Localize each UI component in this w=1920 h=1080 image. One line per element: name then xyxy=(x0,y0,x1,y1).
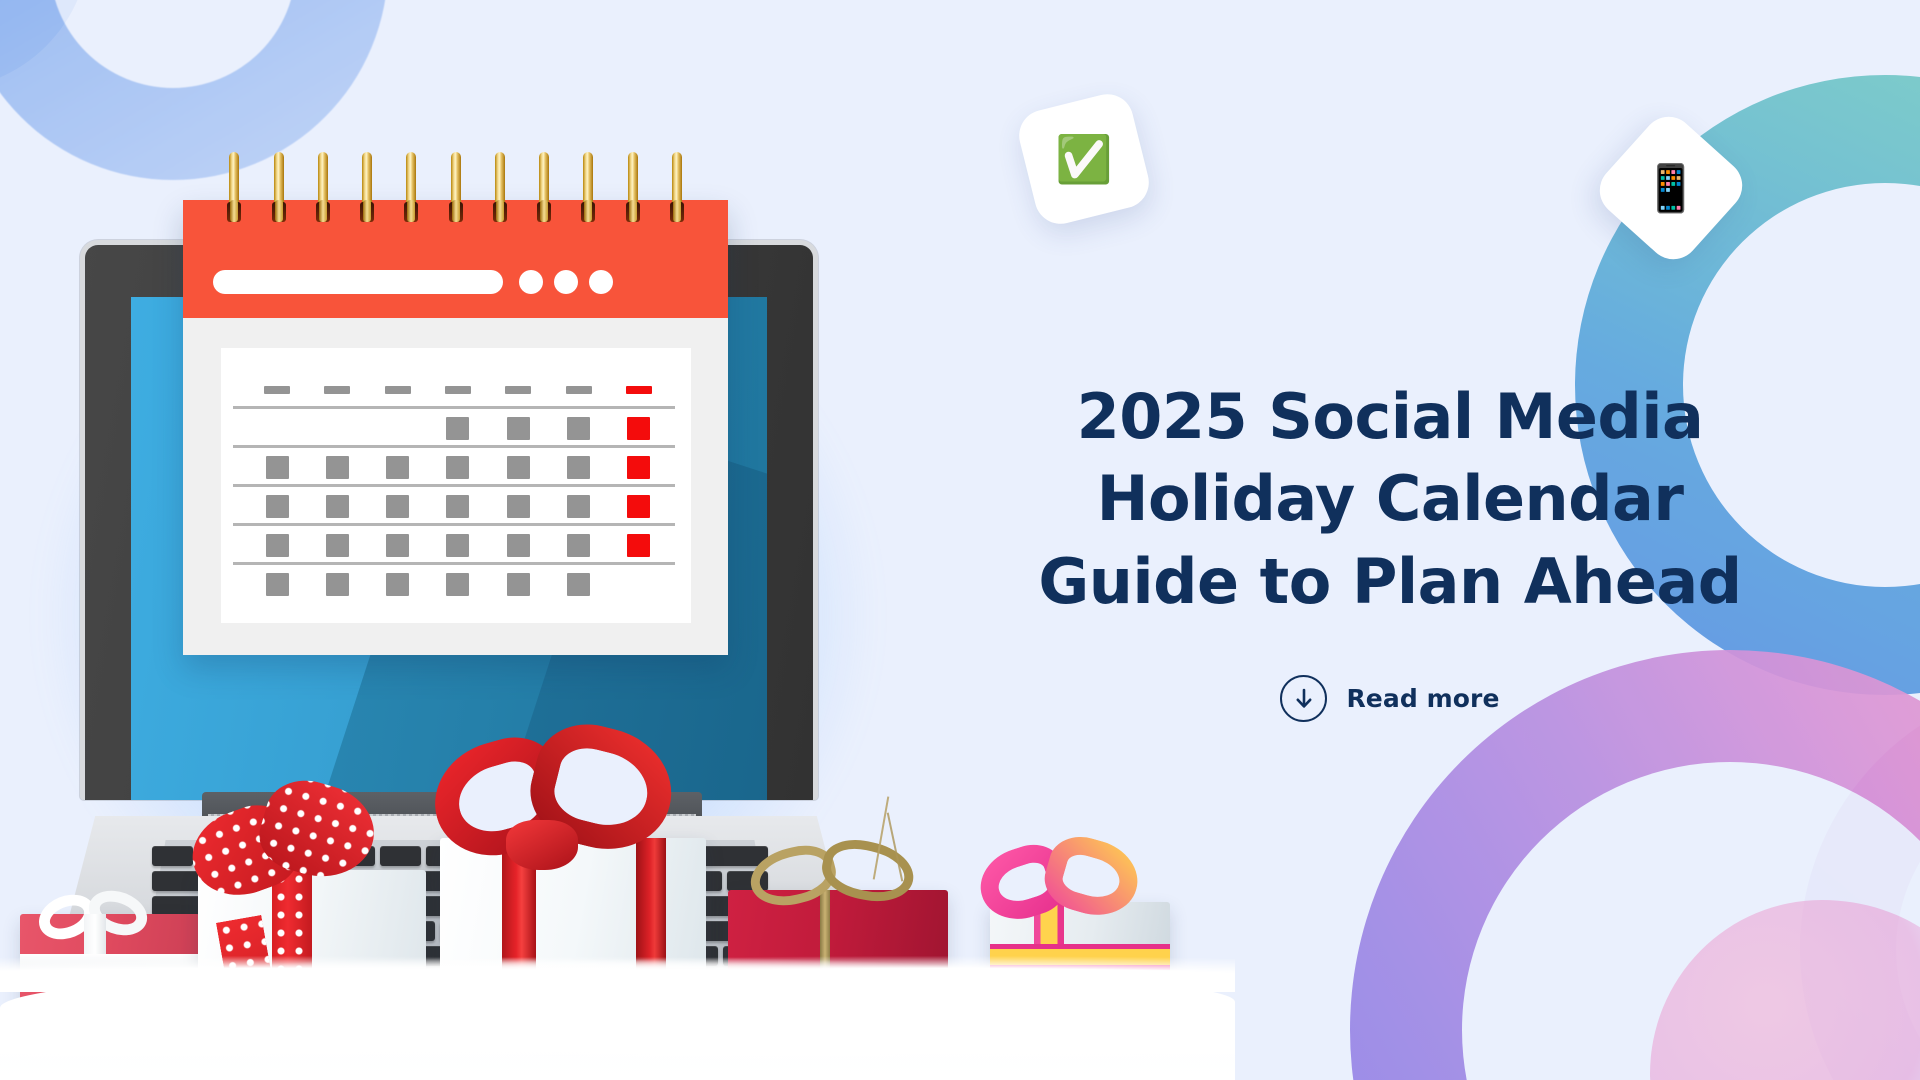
calendar-cell xyxy=(488,573,548,596)
calendar-day xyxy=(266,456,289,479)
calendar-spiral-binding xyxy=(183,152,728,222)
calendar-cell xyxy=(428,573,488,596)
calendar-cell xyxy=(428,534,488,557)
calendar-cell xyxy=(247,417,307,440)
calendar-day xyxy=(567,417,590,440)
calendar-day xyxy=(386,573,409,596)
calendar-day xyxy=(505,386,531,394)
calendar-cell xyxy=(368,417,428,440)
spiral-ring xyxy=(227,152,241,220)
calendar-day-marked xyxy=(627,495,650,518)
calendar-cell xyxy=(307,456,367,479)
calendar-cell xyxy=(548,386,608,394)
calendar-cell xyxy=(609,456,669,479)
calendar-day-marked xyxy=(627,456,650,479)
arrow-down-circle-icon[interactable] xyxy=(1280,675,1327,722)
spiral-ring xyxy=(493,152,507,220)
spiral-ring xyxy=(670,152,684,220)
calendar-day-marked xyxy=(626,386,652,394)
calendar-day xyxy=(567,456,590,479)
calendar-cell xyxy=(488,386,548,394)
calendar-day xyxy=(507,456,530,479)
spiral-ring xyxy=(537,152,551,220)
calendar-cell xyxy=(548,495,608,518)
calendar-day xyxy=(324,386,350,394)
calendar-cell xyxy=(609,534,669,557)
calendar-day xyxy=(266,495,289,518)
calendar-day xyxy=(446,456,469,479)
calendar-day xyxy=(264,386,290,394)
calendar-cell xyxy=(428,417,488,440)
calendar-day xyxy=(507,573,530,596)
calendar-cell xyxy=(247,573,307,596)
calendar-week-row xyxy=(247,409,669,448)
calendar-week-row xyxy=(247,565,669,604)
calendar-cell xyxy=(247,456,307,479)
calendar-weekday-row xyxy=(247,370,669,409)
calendar-cell xyxy=(488,456,548,479)
calendar-day xyxy=(567,534,590,557)
title-line-1: 2025 Social Media xyxy=(1010,376,1770,458)
read-more-link[interactable]: Read more xyxy=(1280,675,1499,722)
calendar-cell xyxy=(488,417,548,440)
spiral-ring xyxy=(316,152,330,220)
calendar-body xyxy=(221,348,691,623)
calendar-day xyxy=(446,534,469,557)
hero-text-panel: 2025 Social Media Holiday Calendar Guide… xyxy=(1000,0,1780,1080)
calendar-day xyxy=(266,534,289,557)
spiral-ring xyxy=(272,152,286,220)
calendar-day-blank xyxy=(326,417,349,440)
calendar-day-marked xyxy=(627,534,650,557)
spiral-ring xyxy=(360,152,374,220)
calendar-day-blank xyxy=(386,417,409,440)
calendar-cell xyxy=(548,456,608,479)
calendar-day xyxy=(567,573,590,596)
read-more-label: Read more xyxy=(1346,684,1499,713)
calendar-day xyxy=(507,417,530,440)
title-line-3: Guide to Plan Ahead xyxy=(1010,541,1770,623)
calendar-day xyxy=(445,386,471,394)
calendar-cell xyxy=(488,495,548,518)
calendar-day xyxy=(566,386,592,394)
calendar-cell xyxy=(247,386,307,394)
calendar-day xyxy=(386,495,409,518)
page-title: 2025 Social Media Holiday Calendar Guide… xyxy=(1010,376,1770,623)
calendar-cell xyxy=(307,573,367,596)
calendar-grid xyxy=(247,370,669,604)
calendar-day xyxy=(326,456,349,479)
title-line-2: Holiday Calendar xyxy=(1010,458,1770,540)
calendar-dot xyxy=(519,270,543,294)
calendar-day xyxy=(386,534,409,557)
calendar-day xyxy=(326,495,349,518)
calendar-day xyxy=(446,573,469,596)
calendar-dot xyxy=(554,270,578,294)
calendar-cell xyxy=(609,417,669,440)
calendar-day xyxy=(567,495,590,518)
calendar-cell xyxy=(548,417,608,440)
calendar-day xyxy=(507,534,530,557)
calendar-day xyxy=(446,417,469,440)
calendar-cell xyxy=(609,386,669,394)
calendar-day xyxy=(326,573,349,596)
desk-calendar xyxy=(183,200,728,655)
calendar-day xyxy=(507,495,530,518)
hero-banner: ✅ 📱 2025 Social Media Holiday Calendar G… xyxy=(0,0,1920,1080)
calendar-header-dots xyxy=(519,270,613,294)
calendar-title-placeholder xyxy=(213,270,503,294)
spiral-ring xyxy=(581,152,595,220)
calendar-cell xyxy=(428,495,488,518)
calendar-cell xyxy=(307,495,367,518)
calendar-dot xyxy=(589,270,613,294)
calendar-cell xyxy=(368,456,428,479)
calendar-day xyxy=(446,495,469,518)
calendar-day-blank xyxy=(627,573,650,596)
calendar-cell xyxy=(548,534,608,557)
calendar-cell xyxy=(488,534,548,557)
calendar-cell xyxy=(247,534,307,557)
calendar-cell xyxy=(428,386,488,394)
calendar-cell xyxy=(428,456,488,479)
calendar-header xyxy=(183,200,728,318)
background-ring-bottom-right-small xyxy=(1800,680,1920,1080)
calendar-week-row xyxy=(247,448,669,487)
calendar-cell xyxy=(548,573,608,596)
calendar-cell xyxy=(368,495,428,518)
calendar-cell xyxy=(307,386,367,394)
calendar-day xyxy=(386,456,409,479)
calendar-cell xyxy=(307,417,367,440)
calendar-week-row xyxy=(247,487,669,526)
calendar-cell xyxy=(609,573,669,596)
spiral-ring xyxy=(404,152,418,220)
calendar-week-row xyxy=(247,526,669,565)
spiral-ring xyxy=(626,152,640,220)
calendar-day-blank xyxy=(266,417,289,440)
calendar-cell xyxy=(247,495,307,518)
calendar-day-marked xyxy=(627,417,650,440)
calendar-cell xyxy=(307,534,367,557)
calendar-day xyxy=(385,386,411,394)
calendar-cell xyxy=(368,573,428,596)
calendar-cell xyxy=(368,386,428,394)
calendar-day xyxy=(266,573,289,596)
calendar-cell xyxy=(368,534,428,557)
calendar-day xyxy=(326,534,349,557)
spiral-ring xyxy=(449,152,463,220)
calendar-cell xyxy=(609,495,669,518)
